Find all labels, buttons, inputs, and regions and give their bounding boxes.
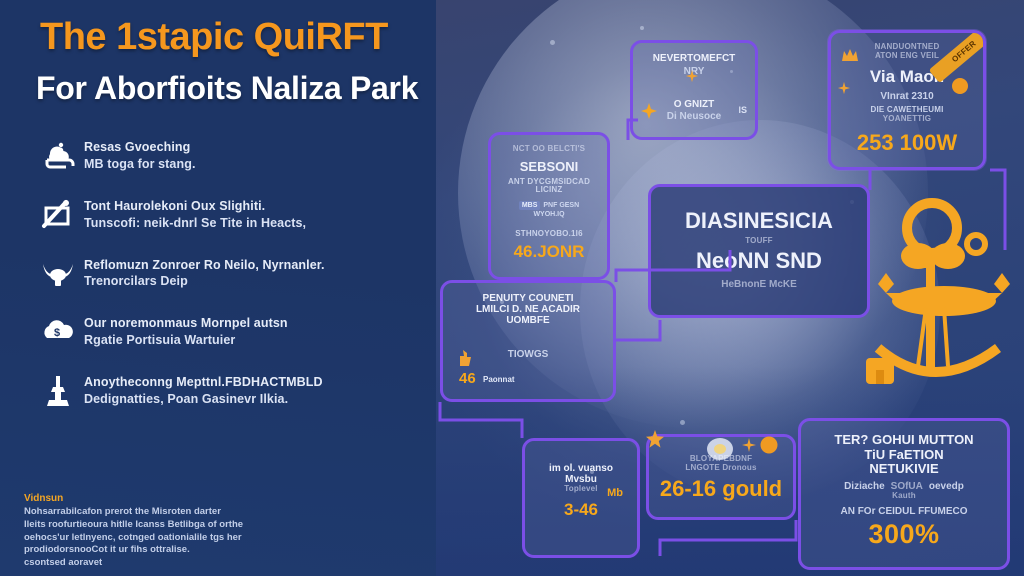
card-top-left-title: NEVERTOMEFCT [639, 53, 749, 64]
card-top-right-sub3: YOANETTIG [839, 115, 975, 124]
bullet-line-1: Reflomuzn Zonroer Ro Neilo, Nyrnanler. [84, 257, 432, 274]
bullet-line-1: Tont Haurolekoni Oux Slighiti. [84, 198, 432, 215]
card-penalty-line1: PENUITY COUNETI [449, 293, 607, 304]
card-mid-left[interactable]: NCT OO BELCTI'S SEBSONI ANT DYCGMSIDCAD … [488, 132, 610, 280]
card-penalty-line3: UOMBFE [449, 315, 607, 326]
card-bottom-right-stat: 300% [809, 519, 999, 549]
orange-spark-icon [742, 438, 756, 452]
footer-line: oehocs'ur letlnyenc, cotnged oationialil… [24, 532, 314, 545]
bullet-line-1: Our noremonmaus Mornpel autsn [84, 315, 432, 332]
card-center-title1: DIASINESICIA [659, 209, 859, 234]
orange-burst-icon [641, 103, 657, 119]
card-top-left-trailing: lS [738, 105, 747, 115]
card-mid-left-note: STHNOYOBO.1I6 [497, 230, 601, 239]
card-mid-left-tag1: MBS [519, 201, 541, 210]
card-top-right[interactable]: NANDUONTNED ATON ENG VEIL Via Maon VInra… [828, 30, 986, 170]
card-penalty-stat: 46 [459, 370, 476, 387]
left-panel: The 1stapic QuiRFT For Aborfioits Naliza… [0, 0, 436, 576]
speck [550, 40, 555, 45]
orange-thumb-icon [457, 349, 473, 367]
card-mid-left-title: SEBSONI [497, 160, 601, 175]
card-bottom-right-line3: NETUKIVIE [809, 462, 999, 477]
orange-gear-icon [962, 230, 990, 258]
card-top-right-stat: 253 100W [839, 131, 975, 156]
list-item[interactable]: Anoytheconng Mepttnl.FBDHACTMBLD Dedigna… [32, 373, 432, 408]
bullet-line-1: Resas Gvoeching [84, 139, 432, 156]
footer-block: Vidnsun Nohsarrabilcafon prerot the Misr… [24, 493, 314, 570]
card-penalty-stat-label: Paonnat [483, 375, 515, 384]
white-flower-icon [706, 436, 734, 462]
bullet-line-2: Dedignatties, Poan Gasinevr Ilkia. [84, 391, 432, 408]
card-center-dark[interactable]: DIASINESICIA TOUFF NeoNN SND HeBnonE McK… [648, 184, 870, 318]
bullet-icon-slot [32, 138, 84, 170]
bullet-text: Anoytheconng Mepttnl.FBDHACTMBLD Dedigna… [84, 373, 432, 408]
svg-text:$: $ [54, 327, 60, 339]
list-item[interactable]: $ Our noremonmaus Mornpel autsn Rgatie P… [32, 314, 432, 349]
monument-icon [41, 375, 75, 407]
bullet-line-1: Anoytheconng Mepttnl.FBDHACTMBLD [84, 374, 432, 391]
card-mid-left-tag2: PNF GESN [543, 202, 579, 209]
bullet-text: Resas Gvoeching MB toga for stang. [84, 138, 432, 173]
card-bottom-mid-line2: LNGOTE Dronous [655, 464, 787, 473]
card-mid-left-eyebrow: NCT OO BELCTI'S [497, 145, 601, 154]
bullet-line-2: Trenorcilars Deip [84, 273, 432, 290]
bullet-list: Resas Gvoeching MB toga for stang. Tont … [32, 138, 432, 432]
bullet-icon-slot [32, 373, 84, 407]
card-bottom-right-line4a: Diziache [844, 481, 885, 492]
bullet-icon-slot [32, 197, 84, 229]
card-bottom-right-line2: TiU FaETION [809, 448, 999, 463]
list-item[interactable]: Tont Haurolekoni Oux Slighiti. Tunscofi:… [32, 197, 432, 232]
card-mid-left-stat: 46.JONR [497, 242, 601, 261]
list-item[interactable]: Resas Gvoeching MB toga for stang. [32, 138, 432, 173]
orange-spark-icon [685, 69, 699, 83]
poster-title-secondary: For Aborfioits Naliza Park [36, 70, 556, 107]
card-bottom-left[interactable]: im ol. vuanso Mvsbu Toplevel 3-46 Mb [522, 438, 640, 558]
footer-line: csontsed aoravet [24, 557, 314, 570]
no-entry-box-icon [41, 199, 75, 229]
card-bottom-mid-stat: 26-16 gould [655, 477, 787, 502]
orange-ball-icon [760, 436, 778, 454]
bullet-icon-slot: $ [32, 314, 84, 346]
poster-title-primary: The 1stapic QuiRFT [40, 16, 540, 59]
card-center-title2: NeoNN SND [659, 249, 859, 274]
card-bottom-right-line4b: SOfUA [891, 481, 923, 492]
orange-spark-icon [837, 81, 851, 95]
list-item[interactable]: Reflomuzn Zonroer Ro Neilo, Nyrnanler. T… [32, 256, 432, 291]
footer-line: Ileits roofurtieoura hitlle Icanss Betli… [24, 519, 314, 532]
card-bottom-right[interactable]: TER? GOHUI MUTTON TiU FaETION NETUKIVIE … [798, 418, 1010, 570]
card-top-left[interactable]: NEVERTOMEFCT NRY O GNIZT Di Neusoce lS [630, 40, 758, 140]
card-bottom-left-line1: im ol. vuanso [531, 463, 631, 474]
bullet-line-2: Tunscofi: neik-dnrl Se Tite in Heacts, [84, 215, 432, 232]
card-mid-left-tag3: WYOH.IQ [497, 211, 601, 219]
orange-ball-icon [951, 77, 969, 95]
footer-line: Nohsarrabilcafon prerot the Misroten dar… [24, 506, 314, 519]
cloud-dollar-icon: $ [41, 316, 75, 346]
card-bottom-right-line4c: oevedp [929, 481, 964, 492]
bullet-text: Reflomuzn Zonroer Ro Neilo, Nyrnanler. T… [84, 256, 432, 291]
card-bottom-right-line5: AN FOr CEIDUL FFUMECO [809, 506, 999, 517]
card-center-mid: TOUFF [659, 237, 859, 246]
speck [640, 26, 644, 30]
orange-box-icon [862, 352, 898, 388]
footer-title: Vidnsun [24, 493, 314, 504]
card-bottom-right-line1: TER? GOHUI MUTTON [809, 433, 999, 448]
bullet-line-2: Rgatie Portisuia Wartuier [84, 332, 432, 349]
orange-star-icon [646, 430, 664, 448]
footer-line: prodiodorsnooCot it ur fihs ottralise. [24, 544, 314, 557]
cloud-upload-icon [41, 140, 75, 170]
bullet-text: Tont Haurolekoni Oux Slighiti. Tunscofi:… [84, 197, 432, 232]
card-center-sub: HeBnonE McKE [659, 279, 859, 290]
bullet-line-2: MB toga for stang. [84, 156, 432, 173]
bullet-text: Our noremonmaus Mornpel autsn Rgatie Por… [84, 314, 432, 349]
card-penalty[interactable]: PENUITY COUNETI LMILCI D. NE ACADIR UOMB… [440, 280, 616, 402]
card-bottom-left-badge: Mb [607, 487, 623, 499]
speck [680, 420, 685, 425]
bull-horns-icon [41, 258, 75, 288]
card-bottom-right-line4d: Kauth [809, 492, 999, 501]
orange-crown-icon [841, 47, 859, 65]
card-mid-left-sub2: LICINZ [497, 186, 601, 195]
poster-canvas: NEVERTOMEFCT NRY O GNIZT Di Neusoce lS N… [0, 0, 1024, 576]
bullet-icon-slot [32, 256, 84, 288]
card-penalty-line2: LMILCI D. NE ACADIR [449, 304, 607, 315]
card-bottom-left-stat: 3-46 [531, 500, 631, 519]
